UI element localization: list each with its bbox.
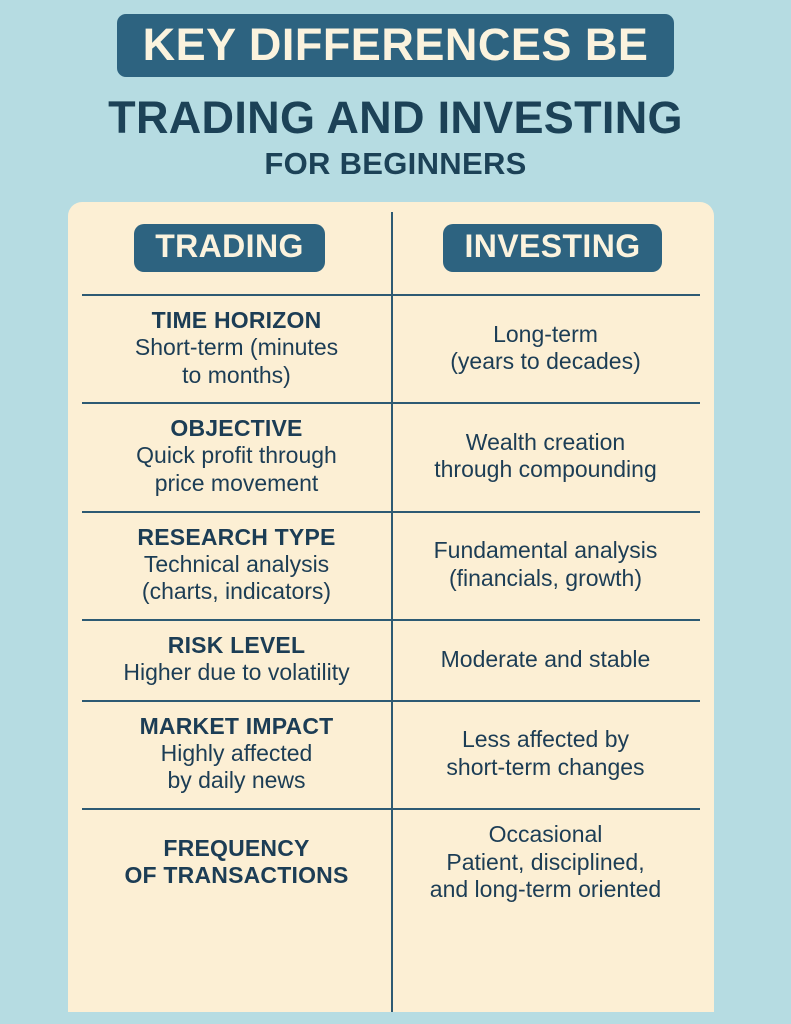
trading-cell-body: Highly affected — [161, 740, 313, 768]
trading-cell: RESEARCH TYPETechnical analysis(charts, … — [82, 513, 391, 619]
page-title-badge: KEY DIFFERENCES BE — [117, 14, 675, 77]
trading-cell-body: Technical analysis — [144, 551, 329, 579]
column-header-trading: TRADING — [68, 202, 391, 294]
trading-cell-body: Higher due to volatility — [123, 659, 349, 687]
investing-cell-line: Wealth creation — [466, 429, 625, 457]
header: KEY DIFFERENCES BE TRADING AND INVESTING… — [0, 0, 791, 181]
column-header-investing-badge: INVESTING — [443, 224, 661, 272]
trading-cell-body: to months) — [182, 362, 291, 390]
trading-cell: TIME HORIZONShort-term (minutesto months… — [82, 296, 391, 402]
trading-cell-title: OBJECTIVE — [170, 415, 302, 442]
trading-cell-body: Short-term (minutes — [135, 334, 338, 362]
trading-cell-title: RISK LEVEL — [168, 632, 305, 659]
investing-cell: Wealth creationthrough compounding — [391, 404, 700, 510]
trading-cell-body: by daily news — [167, 767, 305, 795]
investing-cell-line: Occasional — [489, 821, 603, 849]
trading-cell-title: OF TRANSACTIONS — [124, 862, 348, 889]
trading-cell-body: price movement — [155, 470, 319, 498]
trading-cell-body: Quick profit through — [136, 442, 337, 470]
investing-cell-line: Less affected by — [462, 726, 629, 754]
trading-cell-body: (charts, indicators) — [142, 578, 331, 606]
trading-cell-title: MARKET IMPACT — [140, 713, 334, 740]
trading-cell-title: FREQUENCY — [163, 835, 309, 862]
investing-cell-line: Fundamental analysis — [434, 537, 658, 565]
investing-cell-line: through compounding — [434, 456, 657, 484]
investing-cell-line: Patient, disciplined, — [446, 849, 644, 877]
trading-cell: OBJECTIVEQuick profit throughprice movem… — [82, 404, 391, 510]
investing-cell: Long-term(years to decades) — [391, 296, 700, 402]
investing-cell-line: and long-term oriented — [430, 876, 661, 904]
investing-cell: Fundamental analysis(financials, growth) — [391, 513, 700, 619]
comparison-card: TRADING INVESTING TIME HORIZONShort-term… — [68, 202, 714, 1012]
investing-cell-line: (financials, growth) — [449, 565, 642, 593]
investing-cell-line: short-term changes — [446, 754, 644, 782]
column-divider — [391, 212, 393, 1012]
page-title-line3: FOR BEGINNERS — [0, 148, 791, 181]
column-header-investing: INVESTING — [391, 202, 714, 294]
trading-cell-title: TIME HORIZON — [152, 307, 322, 334]
investing-cell: OccasionalPatient, disciplined,and long-… — [391, 810, 700, 917]
investing-cell-line: Long-term — [493, 321, 598, 349]
investing-cell: Less affected byshort-term changes — [391, 702, 700, 808]
trading-cell: RISK LEVELHigher due to volatility — [82, 621, 391, 700]
page-title-line2: TRADING AND INVESTING — [0, 94, 791, 141]
trading-cell-title: RESEARCH TYPE — [137, 524, 335, 551]
column-header-trading-badge: TRADING — [134, 224, 325, 272]
investing-cell: Moderate and stable — [391, 621, 700, 700]
investing-cell-line: (years to decades) — [450, 348, 640, 376]
trading-cell: MARKET IMPACTHighly affectedby daily new… — [82, 702, 391, 808]
investing-cell-line: Moderate and stable — [441, 646, 651, 674]
trading-cell: FREQUENCYOF TRANSACTIONS — [82, 810, 391, 917]
